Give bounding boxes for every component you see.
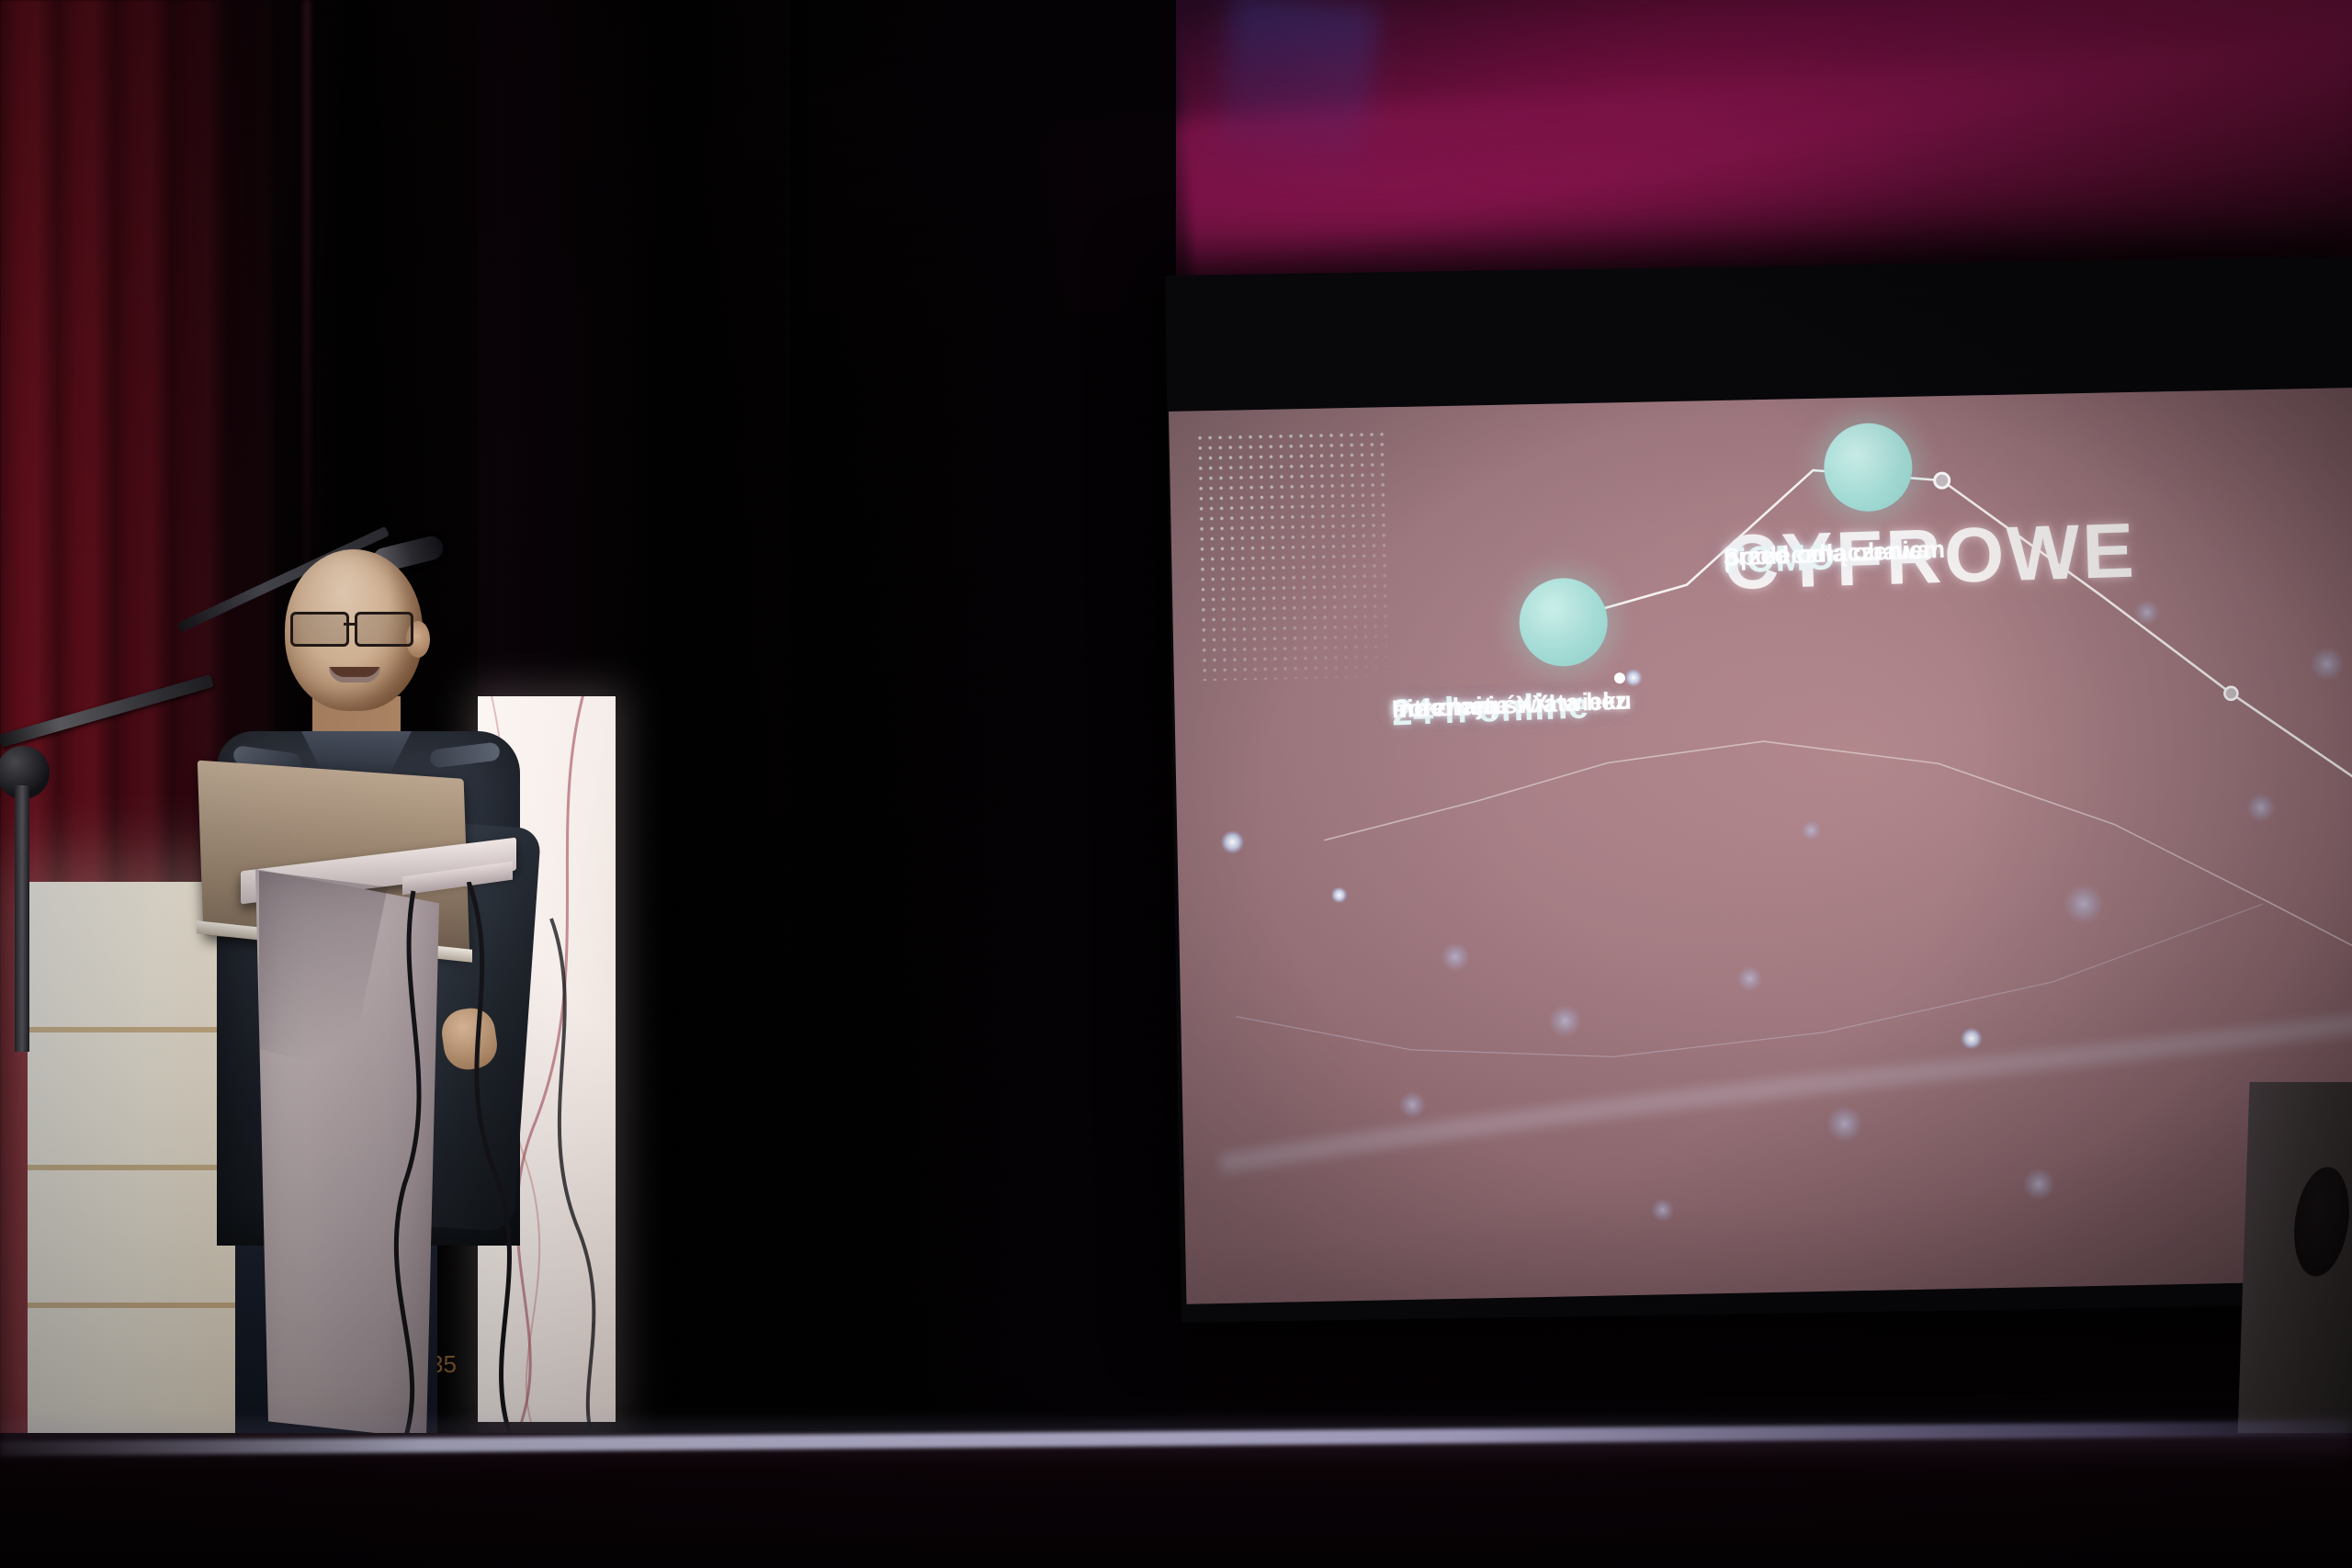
blue-light-shaft (1211, 0, 1379, 219)
stage-loudspeaker (2237, 1082, 2352, 1450)
black-drape-3 (790, 0, 1176, 1456)
cables-group (386, 882, 661, 1451)
person-mouth (329, 667, 380, 682)
microphone-pole (15, 785, 29, 1052)
eyeglass-lens-left (290, 612, 349, 647)
eyeglass-lens-right (355, 612, 413, 647)
eyeglasses-icon (285, 612, 423, 643)
stage-photo-scene: CYFROWE FOMO Społeczna obawa przed odłąc… (0, 0, 2352, 1568)
projected-slide: CYFROWE FOMO Społeczna obawa przed odłąc… (1169, 388, 2352, 1304)
slide-label-24h-line3: Intrernetu (1391, 689, 1508, 727)
